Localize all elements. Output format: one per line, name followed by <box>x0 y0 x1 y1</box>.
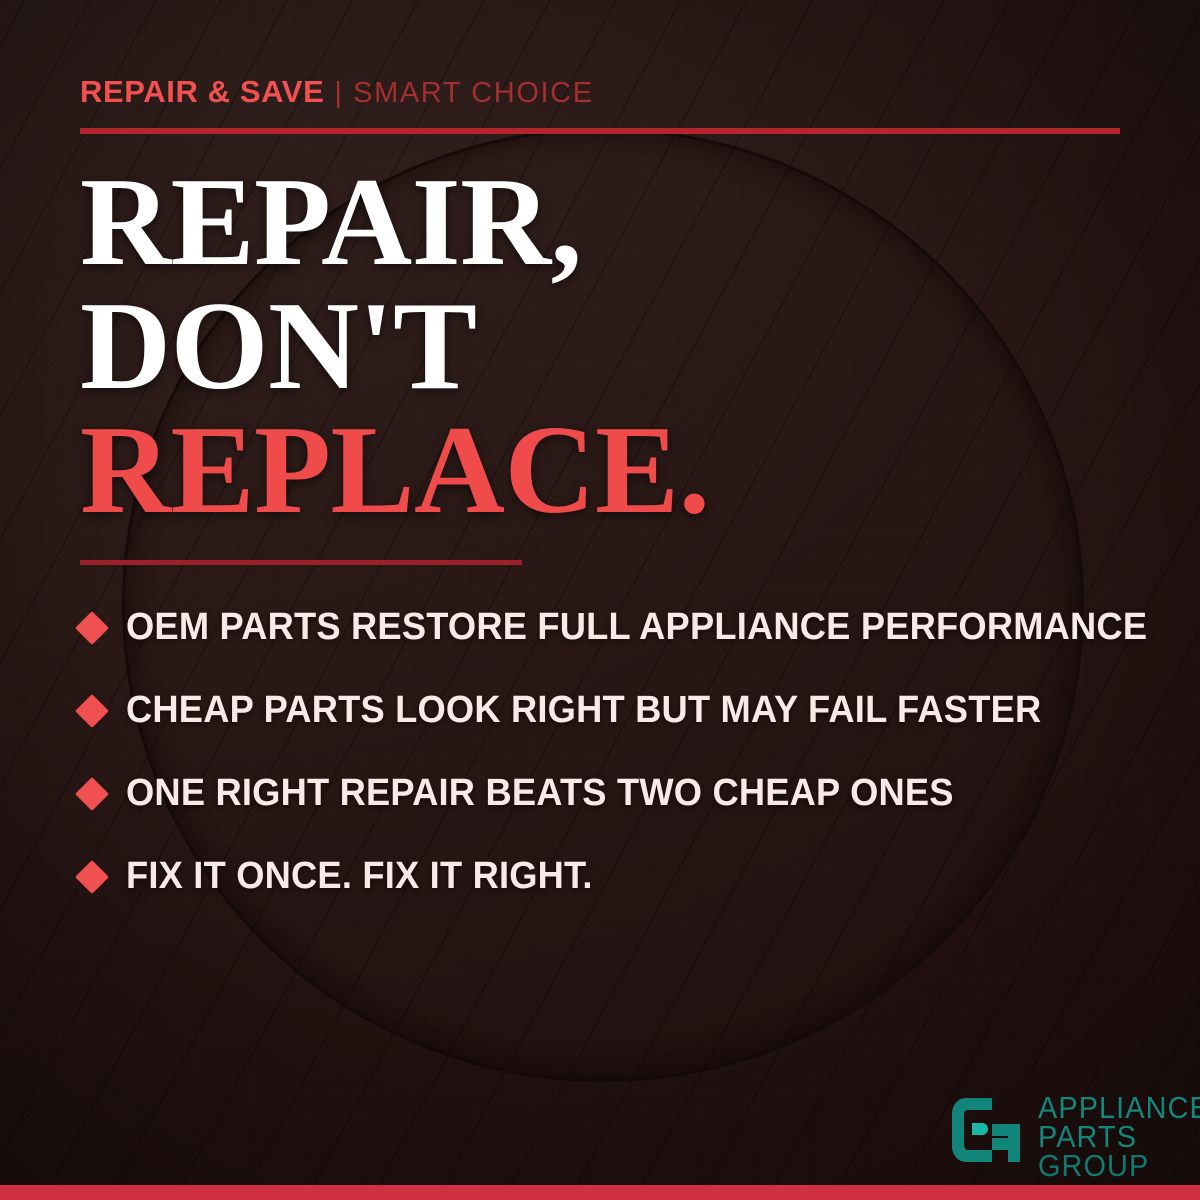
bottom-accent-bar <box>0 1185 1200 1200</box>
promo-poster: REPAIR & SAVE| SMART CHOICE REPAIR, DON'… <box>0 0 1200 1200</box>
eyebrow: REPAIR & SAVE| SMART CHOICE <box>80 76 594 108</box>
headline-divider <box>80 560 522 565</box>
eyebrow-sub-label: | SMART CHOICE <box>334 77 593 109</box>
list-item: FIX IT ONCE. FIX IT RIGHT. <box>80 835 1150 918</box>
header-rule <box>80 128 1120 134</box>
logo-line-1: APPLIANCE <box>1038 1093 1200 1122</box>
list-item-label: CHEAP PARTS LOOK RIGHT BUT MAY FAIL FAST… <box>126 689 1041 732</box>
headline-line-3: REPLACE. <box>80 409 710 533</box>
headline-line-2: DON'T <box>80 285 710 409</box>
diamond-marker-icon <box>75 860 109 894</box>
appliance-parts-group-g-mark-icon <box>948 1092 1024 1168</box>
diamond-marker-icon <box>75 611 109 645</box>
list-item-label: FIX IT ONCE. FIX IT RIGHT. <box>126 855 593 898</box>
logo-line-2: PARTS <box>1038 1122 1200 1151</box>
list-item-label: OEM PARTS RESTORE FULL APPLIANCE PERFORM… <box>126 606 1147 649</box>
list-item-label: ONE RIGHT REPAIR BEATS TWO CHEAP ONES <box>126 772 954 815</box>
diamond-marker-icon <box>75 777 109 811</box>
list-item: CHEAP PARTS LOOK RIGHT BUT MAY FAIL FAST… <box>80 669 1150 752</box>
page-title: REPAIR, DON'T REPLACE. <box>80 161 710 533</box>
brand-logo: APPLIANCE PARTS GROUP <box>948 1092 1200 1180</box>
list-item: OEM PARTS RESTORE FULL APPLIANCE PERFORM… <box>80 586 1150 669</box>
logo-line-3: GROUP <box>1038 1151 1200 1180</box>
diamond-marker-icon <box>75 694 109 728</box>
poster-content: REPAIR & SAVE| SMART CHOICE REPAIR, DON'… <box>0 0 1200 1200</box>
eyebrow-main-label: REPAIR & SAVE <box>80 74 324 109</box>
brand-logo-wordmark: APPLIANCE PARTS GROUP <box>1038 1092 1200 1180</box>
benefit-list: OEM PARTS RESTORE FULL APPLIANCE PERFORM… <box>80 586 1150 918</box>
list-item: ONE RIGHT REPAIR BEATS TWO CHEAP ONES <box>80 752 1150 835</box>
headline-line-1: REPAIR, <box>80 161 710 285</box>
